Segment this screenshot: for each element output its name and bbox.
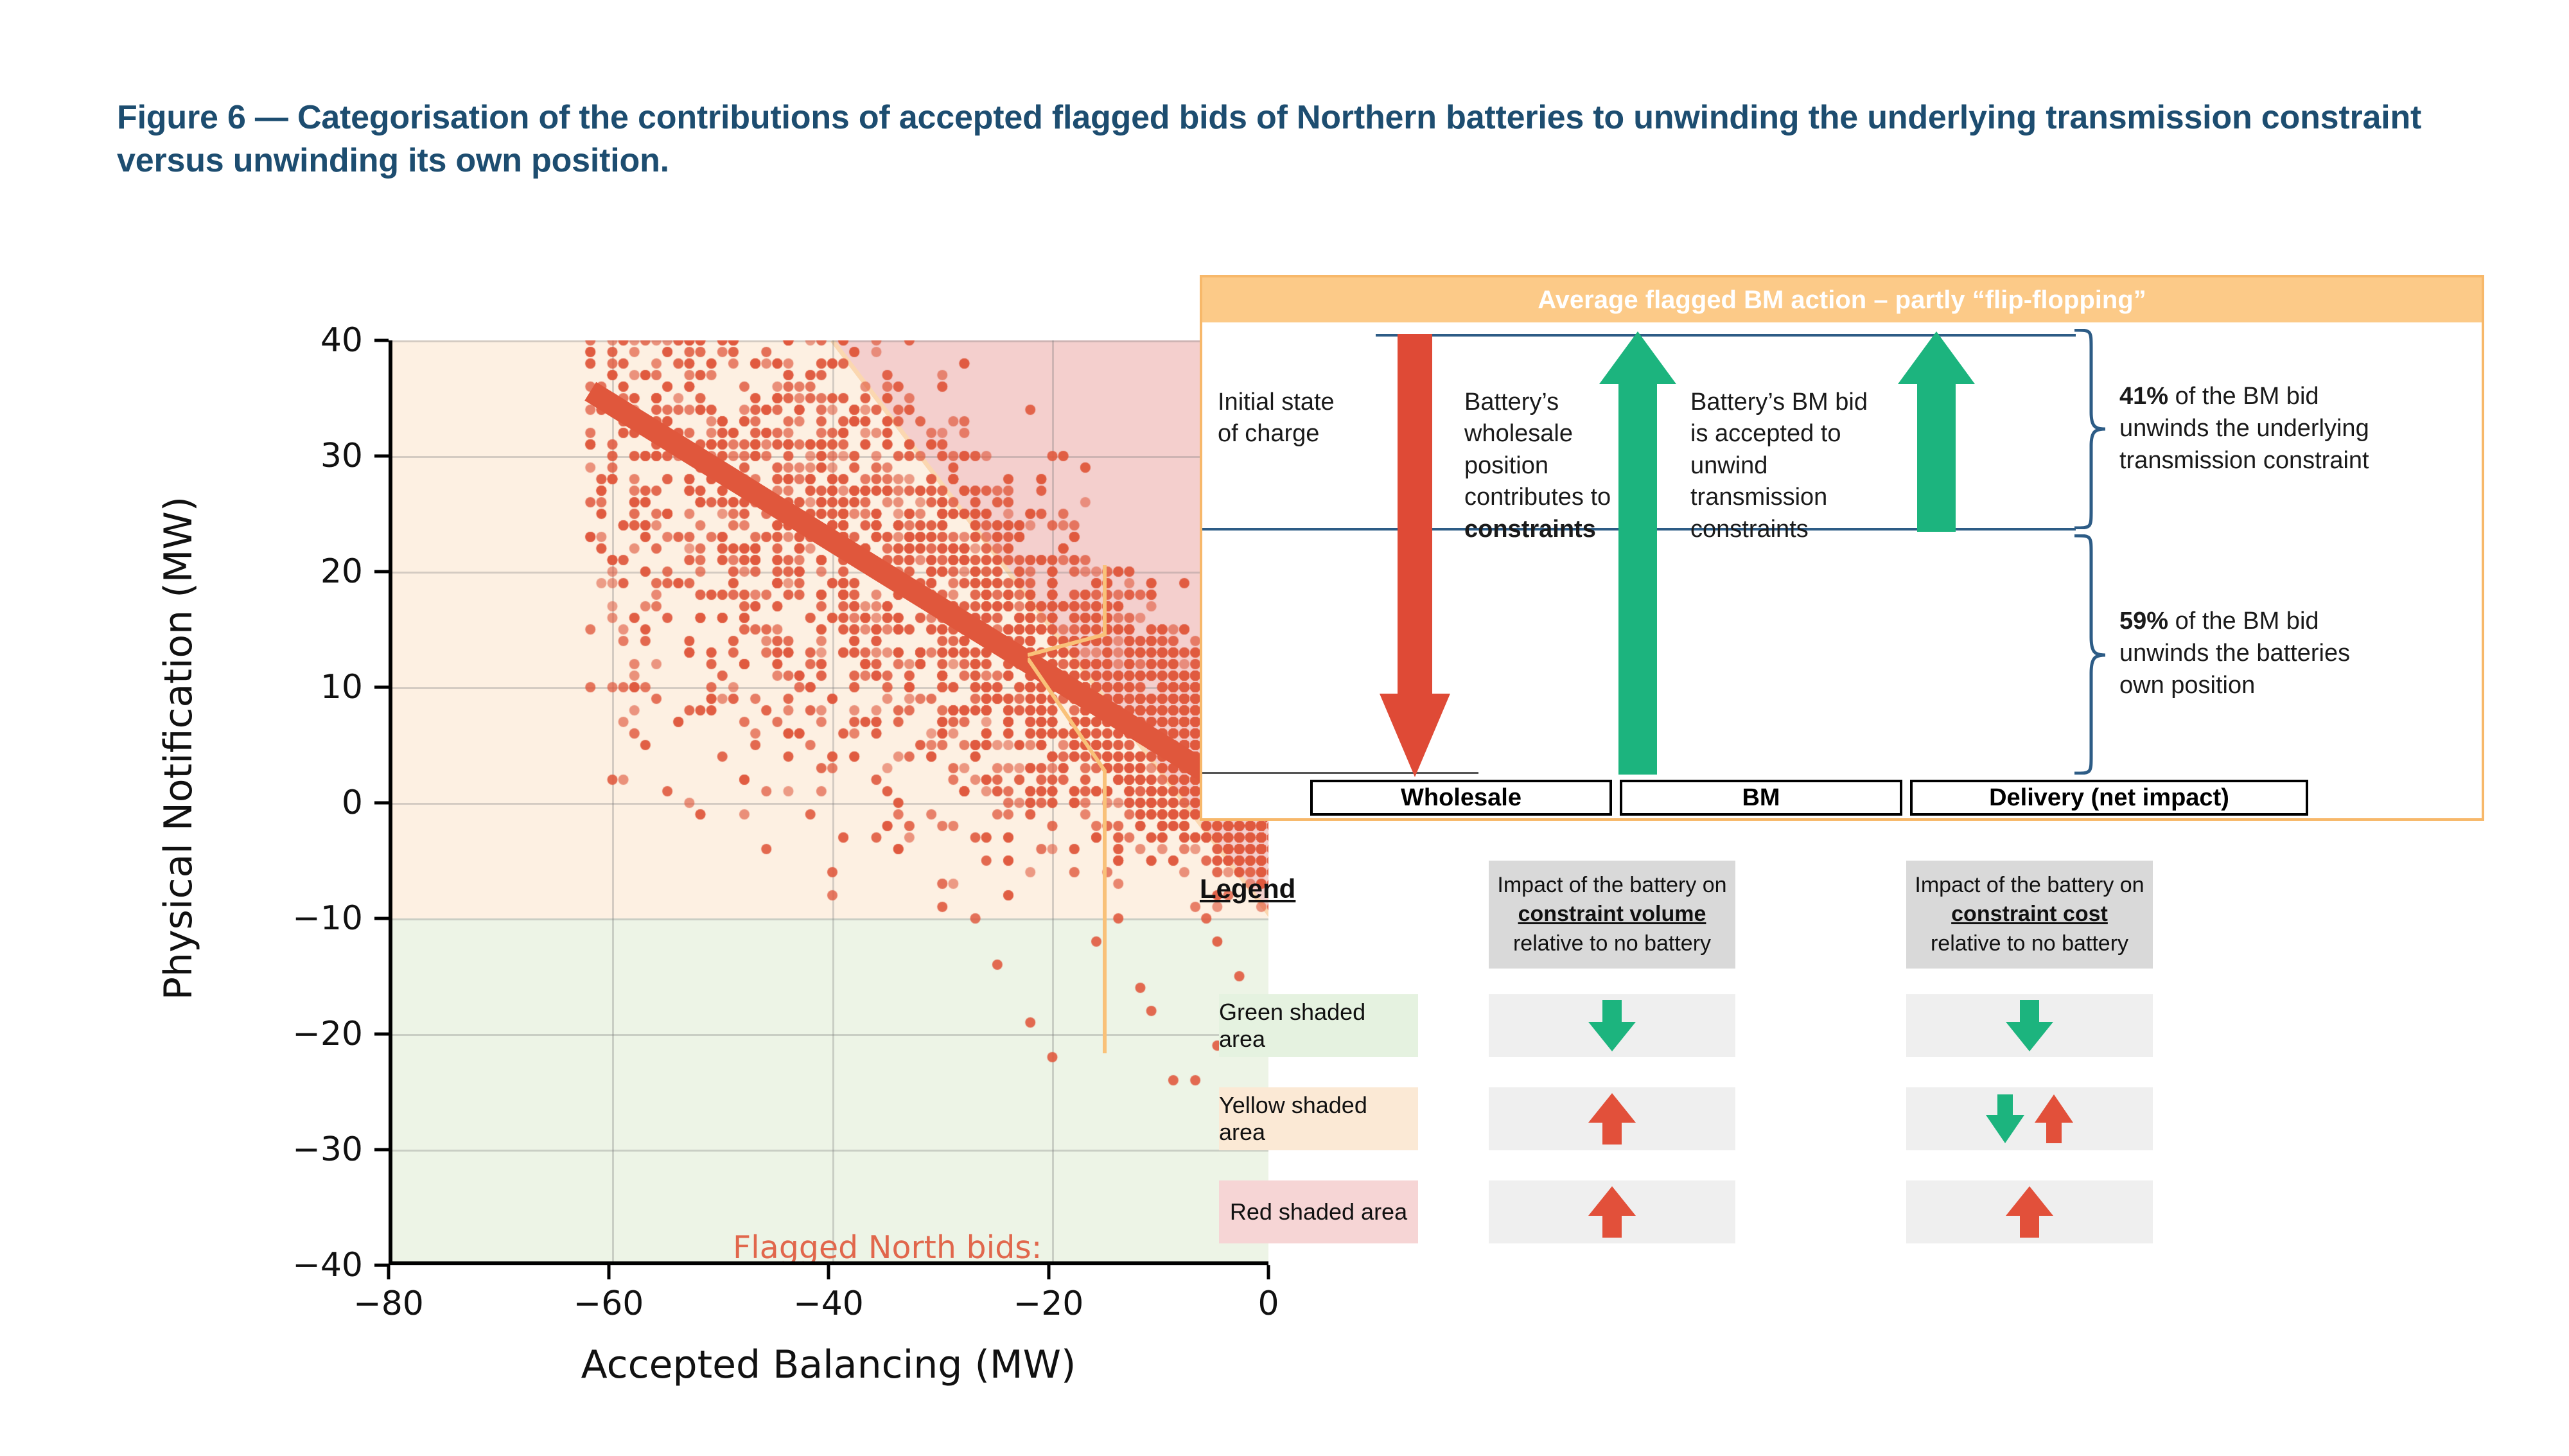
- y-tick-label: −30: [260, 1130, 363, 1169]
- legend-header-volume-em: constraint volume: [1518, 900, 1706, 929]
- y-tick-label: 40: [260, 321, 363, 360]
- stage-box-delivery: Delivery (net impact): [1910, 780, 2308, 816]
- x-tick-mark: [387, 1265, 390, 1279]
- y-tick-label: −10: [260, 899, 363, 938]
- legend-swatch-green: Green shaded area: [1219, 994, 1418, 1057]
- diagram-panel: Average flagged BM action – partly “flip…: [1200, 275, 2484, 821]
- wholesale-down-arrow-icon: [1380, 334, 1450, 777]
- y-tick-mark: [374, 802, 389, 805]
- pct-59-value: 59%: [2119, 608, 2168, 635]
- pct-41-text: 41% of the BM bid unwinds the underlying…: [2119, 380, 2453, 477]
- brace-lower: [2069, 534, 2108, 775]
- y-tick-mark: [374, 686, 389, 689]
- y-tick-mark: [374, 917, 389, 920]
- diagram-header: Average flagged BM action – partly “flip…: [1202, 277, 2482, 322]
- x-tick-mark: [607, 1265, 610, 1279]
- legend-cell-red-volume: [1489, 1180, 1735, 1243]
- callout-connector: [1028, 565, 1214, 1053]
- y-tick-mark: [374, 339, 389, 342]
- chart-annotation: Flagged North bids: Gradient = -0.59 n =…: [733, 1227, 1042, 1265]
- pct-59-text: 59% of the BM bid unwinds the batteries …: [2119, 605, 2453, 701]
- wholesale-description-bold: constraints: [1464, 516, 1596, 543]
- legend-cell-red-cost: [1906, 1180, 2153, 1243]
- page-title: Figure 6 — Categorisation of the contrib…: [117, 96, 2455, 182]
- legend-cell-yellow-cost: [1906, 1087, 2153, 1150]
- legend-header-cost-em: constraint cost: [1951, 900, 2108, 929]
- legend-header-cost: Impact of the battery on constraint cost…: [1906, 861, 2153, 969]
- legend-header-cost-line3: relative to no battery: [1931, 929, 2128, 959]
- legend-header-cost-line1: Impact of the battery on: [1915, 871, 2144, 900]
- wholesale-description: Battery’s wholesale position contributes…: [1464, 387, 1631, 545]
- x-tick-mark: [827, 1265, 830, 1279]
- x-tick-label: −60: [545, 1285, 673, 1323]
- bm-description: Battery’s BM bid is accepted to unwind t…: [1690, 387, 1883, 545]
- brace-upper: [2069, 329, 2108, 529]
- y-tick-mark: [374, 1148, 389, 1152]
- x-tick-label: −20: [985, 1285, 1113, 1323]
- y-tick-label: −40: [260, 1246, 363, 1285]
- stage-box-wholesale: Wholesale: [1310, 780, 1612, 816]
- delivery-up-arrow-icon: [1898, 331, 1975, 532]
- y-tick-label: 0: [260, 784, 363, 822]
- legend-header-volume-line1: Impact of the battery on: [1497, 871, 1726, 900]
- legend-panel: Legend Impact of the battery on constrai…: [1200, 861, 2484, 1336]
- legend-cell-green-cost: [1906, 994, 2153, 1057]
- y-tick-label: 30: [260, 437, 363, 475]
- diagram-body: Initial state of charge Battery’s wholes…: [1202, 322, 2482, 823]
- stage-box-bm: BM: [1620, 780, 1902, 816]
- legend-swatch-red: Red shaded area: [1219, 1180, 1418, 1243]
- wholesale-description-text: Battery’s wholesale position contributes…: [1464, 389, 1611, 511]
- legend-title: Legend: [1200, 873, 1295, 904]
- legend-cell-yellow-volume: [1489, 1087, 1735, 1150]
- pct-41-value: 41%: [2119, 383, 2168, 410]
- y-axis-label: Physical Notification (MW): [156, 427, 201, 1069]
- y-tick-label: 10: [260, 668, 363, 706]
- y-tick-label: −20: [260, 1015, 363, 1053]
- y-tick-mark: [374, 1033, 389, 1036]
- legend-header-volume: Impact of the battery on constraint volu…: [1489, 861, 1735, 969]
- initial-state-label: Initial state of charge: [1218, 387, 1378, 450]
- y-tick-label: 20: [260, 552, 363, 591]
- y-tick-mark: [374, 455, 389, 458]
- x-tick-mark: [1047, 1265, 1050, 1279]
- y-tick-mark: [374, 570, 389, 574]
- legend-header-volume-line3: relative to no battery: [1513, 929, 1711, 959]
- x-tick-label: −80: [324, 1285, 453, 1323]
- x-tick-label: −40: [764, 1285, 893, 1323]
- x-axis-label: Accepted Balancing (MW): [389, 1342, 1268, 1387]
- legend-swatch-yellow: Yellow shaded area: [1219, 1087, 1418, 1150]
- legend-cell-green-volume: [1489, 994, 1735, 1057]
